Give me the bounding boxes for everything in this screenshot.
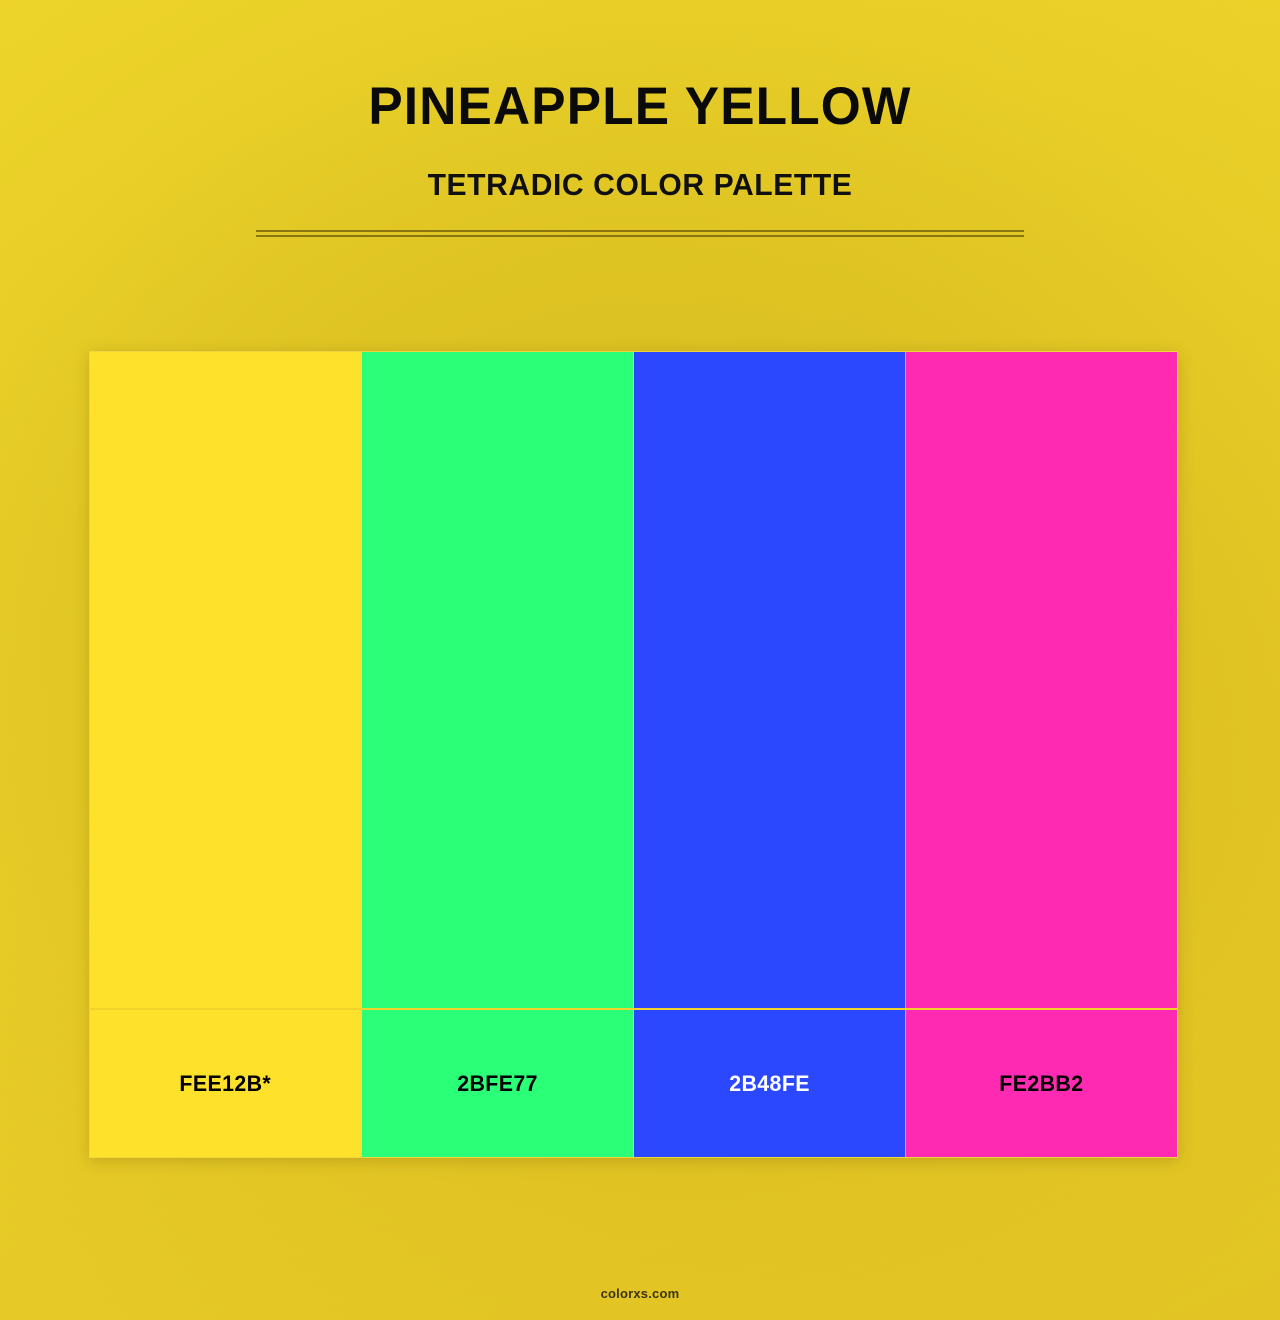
- color-swatch[interactable]: [362, 352, 634, 1008]
- label-row: FEE12B* 2BFE77 2B48FE FE2BB2: [90, 1008, 1177, 1157]
- page-subtitle: TETRADIC COLOR PALETTE: [19, 163, 1261, 207]
- page-title: PINEAPPLE YELLOW: [19, 72, 1261, 142]
- color-hex-label: 2B48FE: [729, 1071, 810, 1097]
- swatch-row: [90, 352, 1177, 1008]
- color-swatch[interactable]: [634, 352, 906, 1008]
- palette-card: FEE12B* 2BFE77 2B48FE FE2BB2: [89, 351, 1178, 1158]
- header-divider: [256, 230, 1024, 238]
- color-hex-label: 2BFE77: [457, 1071, 538, 1097]
- color-label-cell[interactable]: FE2BB2: [906, 1010, 1177, 1157]
- color-label-cell[interactable]: 2B48FE: [634, 1010, 906, 1157]
- footer-credit: colorxs.com: [0, 1286, 1280, 1301]
- color-swatch[interactable]: [90, 352, 362, 1008]
- color-hex-label: FE2BB2: [999, 1071, 1083, 1097]
- divider-line-bottom: [256, 235, 1024, 237]
- color-palette-page: PINEAPPLE YELLOW TETRADIC COLOR PALETTE …: [0, 0, 1280, 1320]
- color-label-cell[interactable]: FEE12B*: [90, 1010, 362, 1157]
- color-swatch[interactable]: [906, 352, 1177, 1008]
- color-label-cell[interactable]: 2BFE77: [362, 1010, 634, 1157]
- color-hex-label: FEE12B*: [180, 1071, 272, 1097]
- divider-line-top: [256, 230, 1024, 232]
